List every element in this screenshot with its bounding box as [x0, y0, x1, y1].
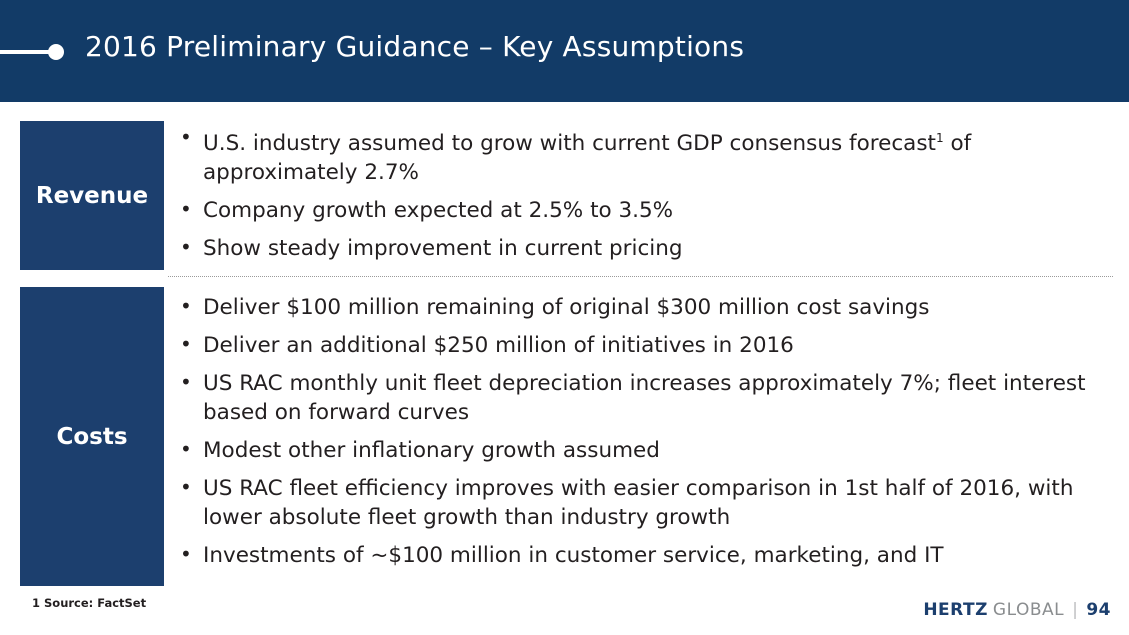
list-item: Modest other inflationary growth assumed	[178, 436, 1113, 465]
page-number: 94	[1086, 600, 1111, 620]
revenue-bullet-list: U.S. industry assumed to grow with curre…	[178, 124, 1113, 272]
section-label-revenue: Revenue	[20, 121, 164, 270]
list-item: U.S. industry assumed to grow with curre…	[178, 124, 1113, 187]
page-title: 2016 Preliminary Guidance – Key Assumpti…	[85, 30, 744, 63]
list-item: Investments of ~$100 million in customer…	[178, 541, 1113, 570]
footnote-marker: 1	[936, 131, 944, 145]
logo-separator: |	[1072, 600, 1078, 620]
bullet-text: U.S. industry assumed to grow with curre…	[203, 131, 936, 156]
list-item: US RAC fleet efficiency improves with ea…	[178, 474, 1113, 532]
logo-hertz: HERTZ	[923, 600, 988, 620]
brand-footer: HERTZ GLOBAL | 94	[923, 600, 1111, 620]
list-item: Company growth expected at 2.5% to 3.5%	[178, 196, 1113, 225]
list-item: Deliver an additional $250 million of in…	[178, 331, 1113, 360]
header-accent-dot-icon	[48, 44, 64, 60]
costs-bullet-list: Deliver $100 million remaining of origin…	[178, 293, 1113, 579]
list-item: Deliver $100 million remaining of origin…	[178, 293, 1113, 322]
section-divider	[168, 276, 1113, 277]
list-item: US RAC monthly unit fleet depreciation i…	[178, 369, 1113, 427]
section-label-costs: Costs	[20, 287, 164, 586]
list-item: Show steady improvement in current prici…	[178, 234, 1113, 263]
footnote: 1 Source: FactSet	[32, 596, 146, 610]
header-band: 2016 Preliminary Guidance – Key Assumpti…	[0, 0, 1129, 102]
logo-global: GLOBAL	[993, 600, 1064, 620]
